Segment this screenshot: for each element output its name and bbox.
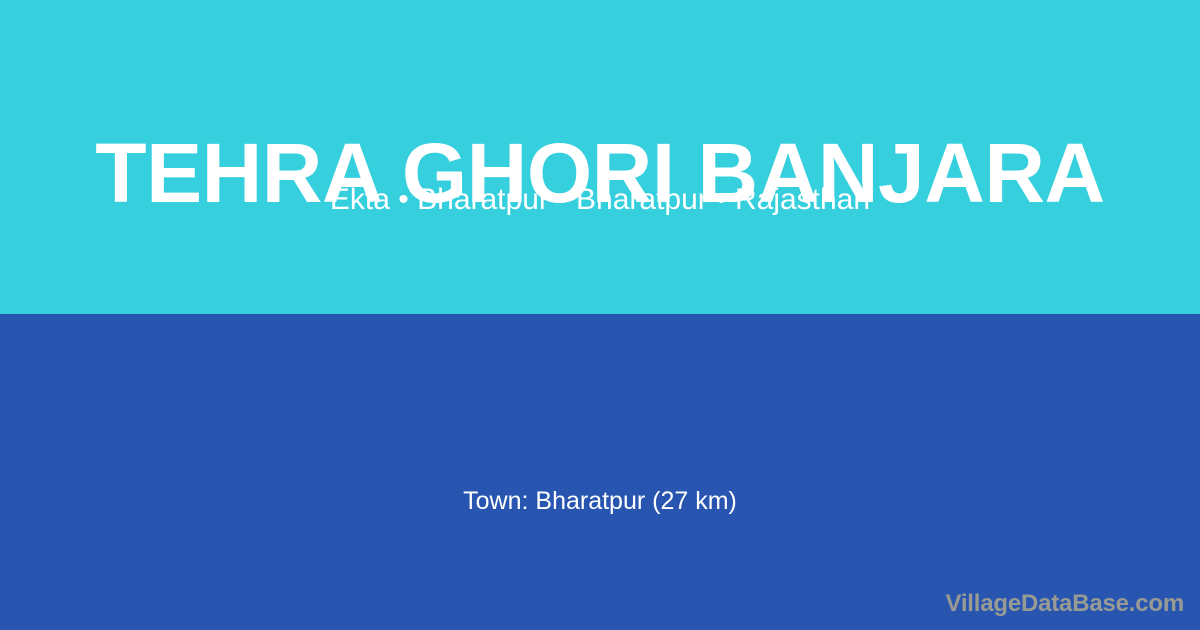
nearest-town-detail: Town: Bharatpur (27 km) bbox=[0, 486, 1200, 517]
village-info-card: TEHRA GHORI BANJARA Ekta • Bharatpur • B… bbox=[0, 0, 1200, 630]
body-band: Town: Bharatpur (27 km) VillageDataBase.… bbox=[0, 314, 1200, 630]
location-breadcrumb: Ekta • Bharatpur • Bharatpur • Rajasthan bbox=[0, 182, 1200, 218]
site-branding: VillageDataBase.com bbox=[945, 592, 1184, 616]
hero-band: TEHRA GHORI BANJARA Ekta • Bharatpur • B… bbox=[0, 0, 1200, 314]
